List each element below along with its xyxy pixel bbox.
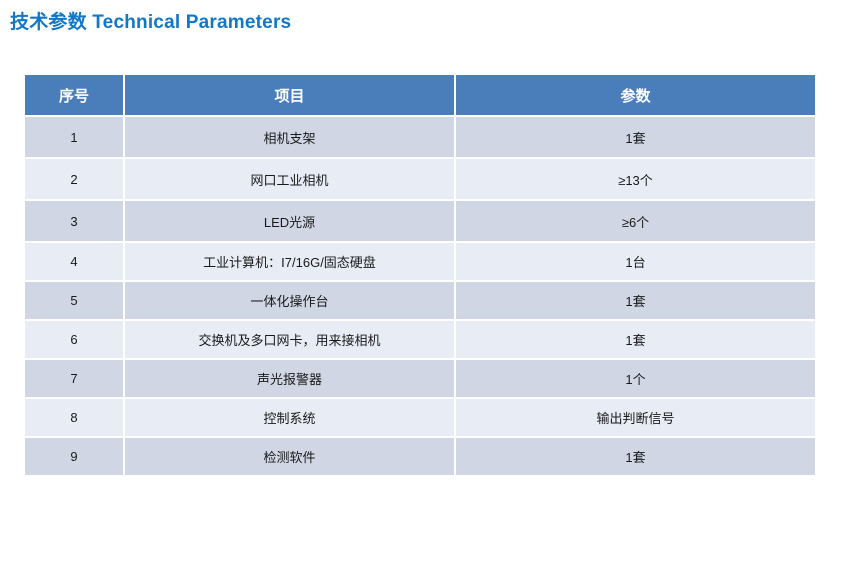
cell-index: 6	[25, 321, 125, 360]
column-header-param: 参数	[456, 75, 815, 117]
cell-param: 1套	[456, 117, 815, 159]
cell-index: 5	[25, 282, 125, 321]
cell-item: 交换机及多口网卡，用来接相机	[125, 321, 456, 360]
cell-param: 1套	[456, 438, 815, 475]
cell-param: ≥13个	[456, 159, 815, 201]
cell-index: 7	[25, 360, 125, 399]
table-row: 3 LED光源 ≥6个	[25, 201, 815, 243]
cell-index: 4	[25, 243, 125, 282]
table-body: 1 相机支架 1套 2 网口工业相机 ≥13个 3 LED光源 ≥6个 4 工业…	[25, 117, 815, 475]
cell-param: 1套	[456, 282, 815, 321]
column-header-item: 项目	[125, 75, 456, 117]
cell-param: ≥6个	[456, 201, 815, 243]
cell-item: 检测软件	[125, 438, 456, 475]
table-row: 9 检测软件 1套	[25, 438, 815, 475]
table-row: 4 工业计算机：I7/16G/固态硬盘 1台	[25, 243, 815, 282]
cell-param: 1台	[456, 243, 815, 282]
table-row: 5 一体化操作台 1套	[25, 282, 815, 321]
cell-item: 一体化操作台	[125, 282, 456, 321]
cell-item: 相机支架	[125, 117, 456, 159]
table-row: 8 控制系统 输出判断信号	[25, 399, 815, 438]
cell-param: 1个	[456, 360, 815, 399]
cell-item: 控制系统	[125, 399, 456, 438]
cell-index: 8	[25, 399, 125, 438]
column-header-index: 序号	[25, 75, 125, 117]
cell-item: 网口工业相机	[125, 159, 456, 201]
table-row: 1 相机支架 1套	[25, 117, 815, 159]
table-header: 序号 项目 参数	[25, 75, 815, 117]
cell-item: LED光源	[125, 201, 456, 243]
cell-index: 9	[25, 438, 125, 475]
table-row: 6 交换机及多口网卡，用来接相机 1套	[25, 321, 815, 360]
cell-item: 声光报警器	[125, 360, 456, 399]
table-header-row: 序号 项目 参数	[25, 75, 815, 117]
table-row: 7 声光报警器 1个	[25, 360, 815, 399]
page-title: 技术参数 Technical Parameters	[10, 7, 291, 34]
cell-index: 2	[25, 159, 125, 201]
cell-param: 输出判断信号	[456, 399, 815, 438]
technical-parameters-table: 序号 项目 参数 1 相机支架 1套 2 网口工业相机 ≥13个 3 LED光源…	[25, 75, 815, 475]
table-row: 2 网口工业相机 ≥13个	[25, 159, 815, 201]
cell-index: 1	[25, 117, 125, 159]
cell-item: 工业计算机：I7/16G/固态硬盘	[125, 243, 456, 282]
cell-param: 1套	[456, 321, 815, 360]
cell-index: 3	[25, 201, 125, 243]
